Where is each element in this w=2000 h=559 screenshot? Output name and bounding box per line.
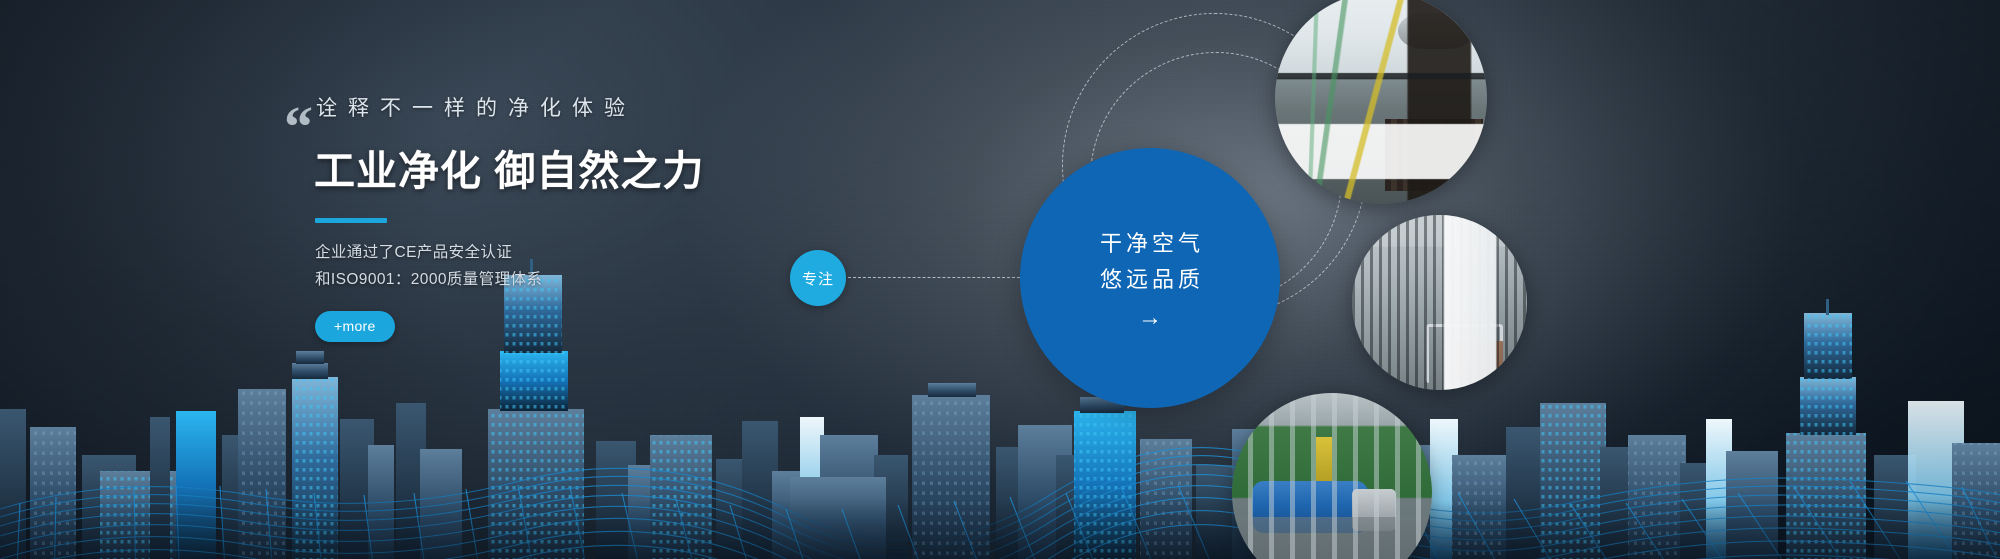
photo-pressure-vessel-image (1232, 393, 1432, 559)
hero-copy-block: “ 诠释不一样的净化体验 工业净化 御自然之力 企业通过了CE产品安全认证 和I… (310, 92, 930, 342)
more-button[interactable]: +more (315, 311, 395, 342)
photo-detail-yellow-valve (1316, 437, 1332, 489)
arrow-right-icon: → (1138, 306, 1162, 330)
photo-machinery[interactable] (1352, 215, 1527, 390)
photo-pressure-vessel[interactable] (1232, 393, 1432, 559)
photo-detail-railing (1426, 324, 1503, 384)
photo-detail-crate (1457, 341, 1503, 380)
hero-banner: “ 诠释不一样的净化体验 工业净化 御自然之力 企业通过了CE产品安全认证 和I… (0, 0, 2000, 559)
city-buildings-center (790, 383, 1072, 559)
photo-detail-blue-cylinder (1252, 481, 1368, 533)
photo-detail-dark-bay (1385, 119, 1483, 191)
focus-badge-label: 专注 (802, 268, 834, 289)
main-circle-line-1: 干净空气 (1096, 226, 1204, 262)
hero-subtitle: 诠释不一样的净化体验 (310, 92, 930, 122)
photo-factory-hall-image (1275, 0, 1487, 204)
focus-badge[interactable]: 专注 (790, 250, 846, 306)
accent-divider (315, 218, 387, 223)
main-circle-line-2: 悠远品质 (1096, 262, 1204, 298)
wireframe-cityscape (0, 259, 2000, 559)
city-buildings-left (0, 351, 462, 559)
photo-detail-flange (1352, 489, 1396, 531)
hero-headline: 工业净化 御自然之力 (310, 137, 930, 197)
photo-machinery-image (1352, 215, 1527, 390)
city-buildings-center-left (596, 421, 816, 559)
vignette-overlay (0, 0, 2000, 559)
photo-detail-tank (1398, 13, 1474, 49)
quote-mark-icon: “ (284, 98, 311, 156)
photo-factory-hall[interactable] (1275, 0, 1487, 204)
wireframe-terrain-mesh (0, 448, 2000, 559)
main-circle-cta[interactable]: 干净空气 悠远品质 → (1020, 148, 1280, 408)
background-texture (0, 0, 2000, 559)
city-tower-right (1786, 299, 2000, 559)
city-buildings-right (1430, 403, 1778, 559)
